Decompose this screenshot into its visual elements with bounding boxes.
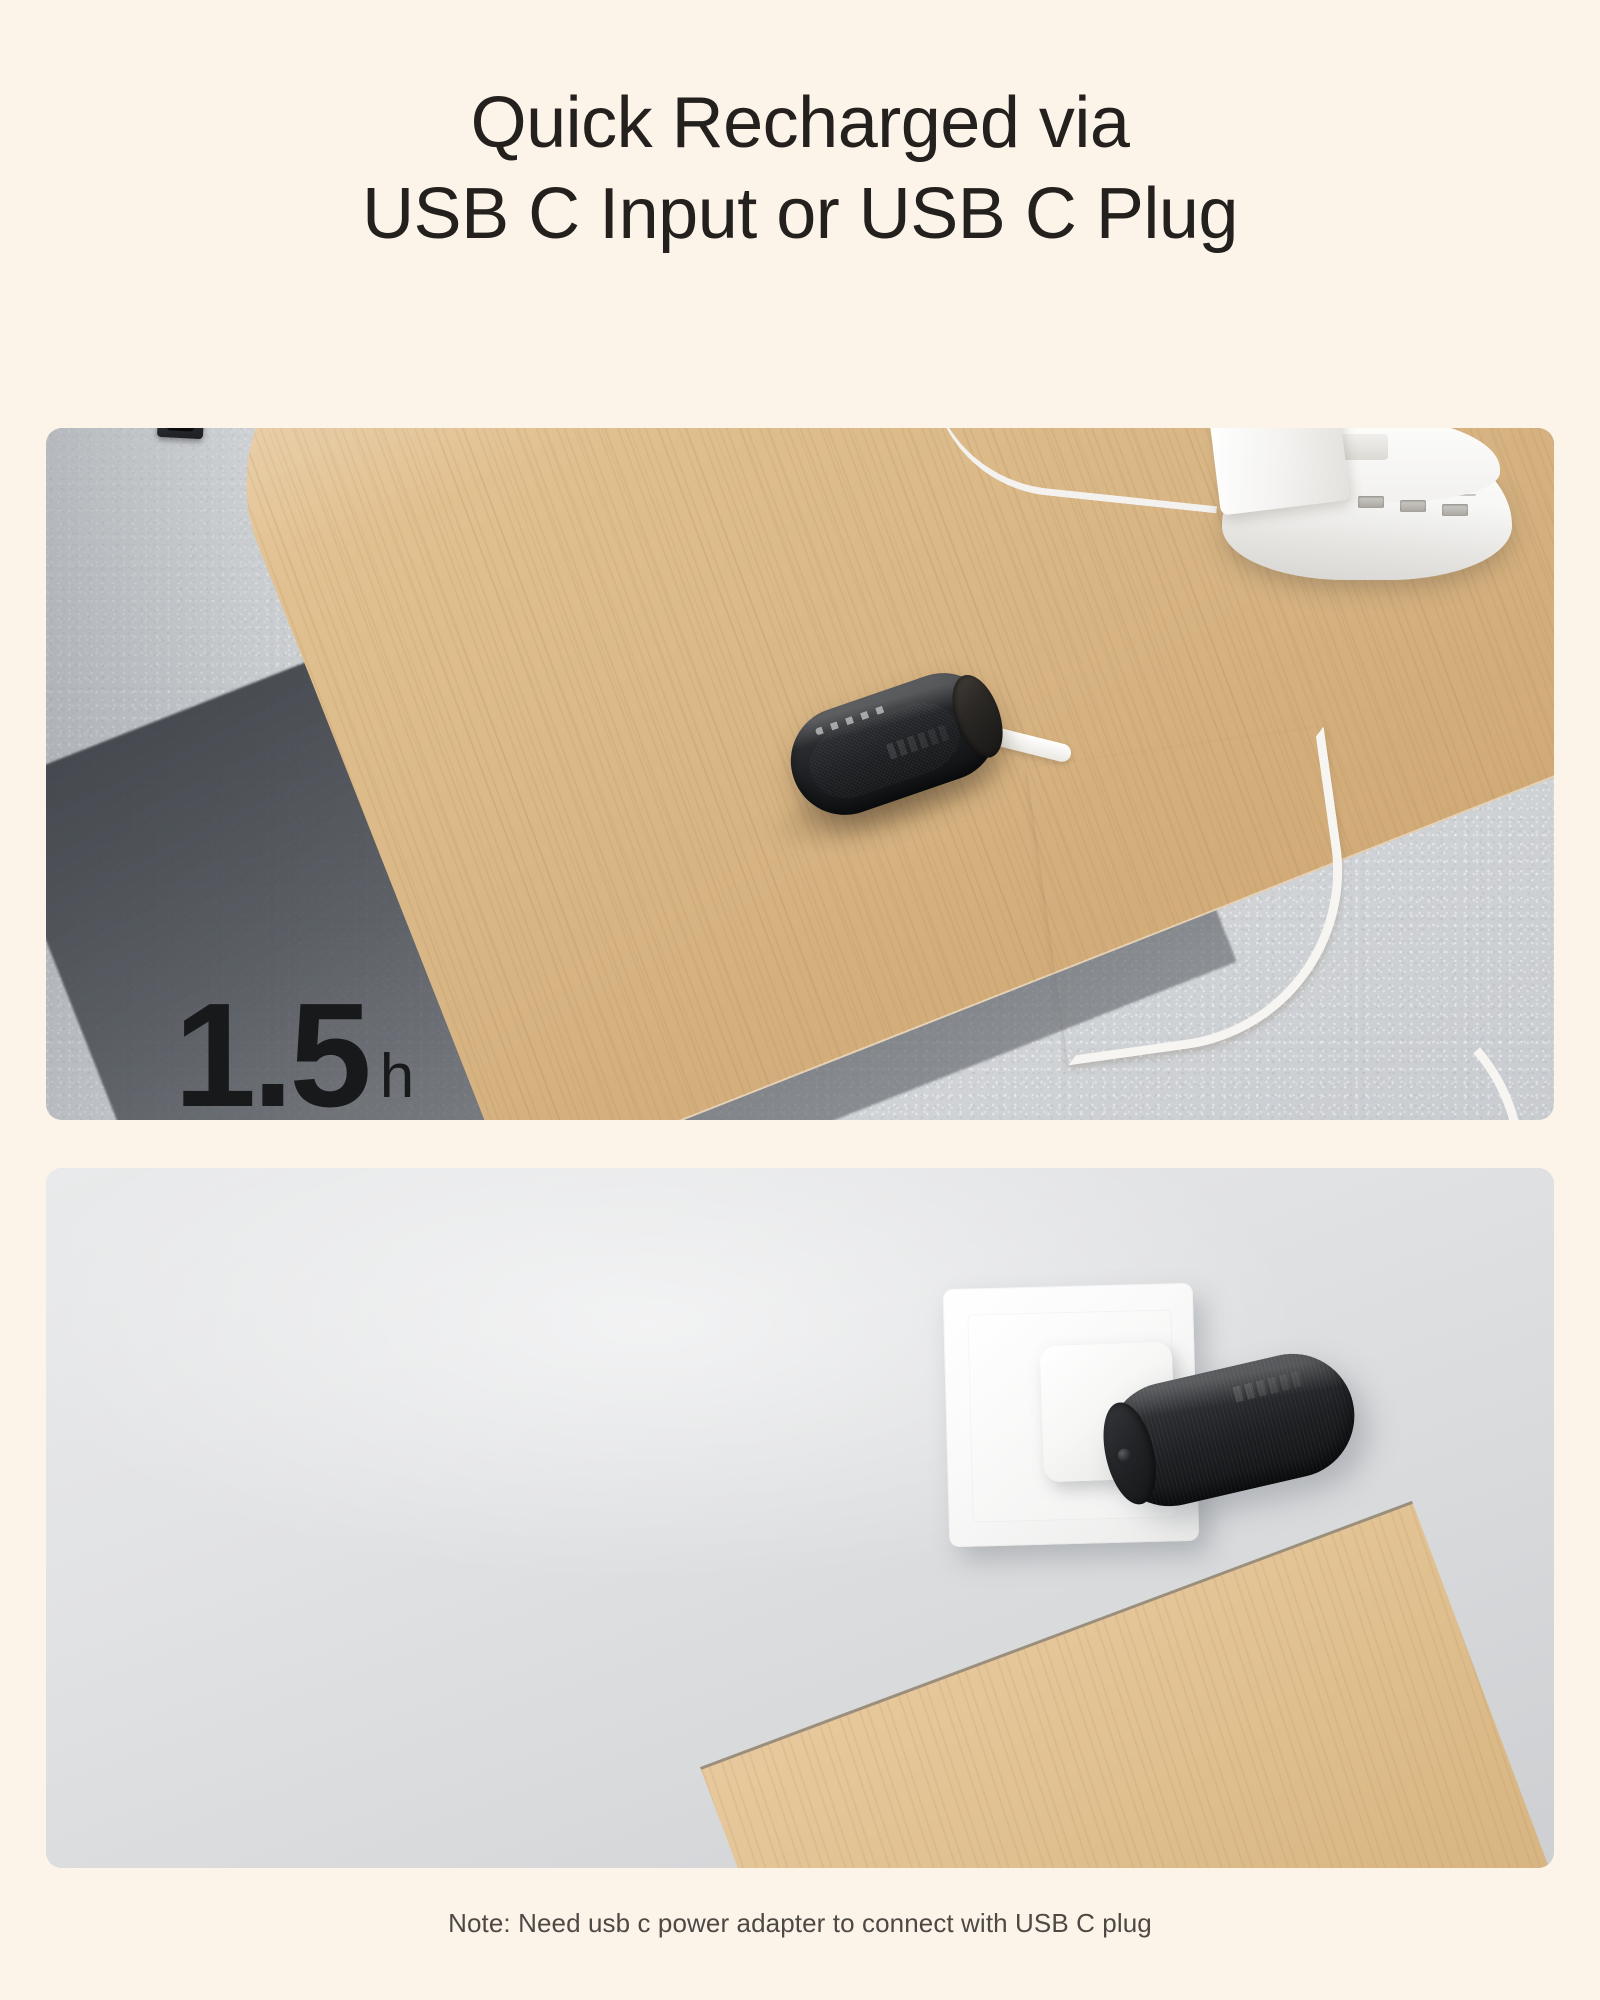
stat-row: 1.5 h (174, 988, 536, 1120)
power-strip-usb-port (1400, 500, 1426, 512)
page-title-line-1: Quick Recharged via (0, 78, 1600, 169)
page-title: Quick Recharged via USB C Input or USB C… (0, 78, 1600, 259)
power-bank-brand-logo (886, 725, 950, 760)
feature-panel-usb-c-input: 1.5 h by 9V-2A Quick Charger (46, 428, 1554, 1120)
power-bank-led-indicators (815, 705, 887, 736)
charge-time-unit: h (380, 1046, 414, 1108)
stat-block-panel-1: 1.5 h by 9V-2A Quick Charger (174, 988, 536, 1120)
charge-time-value: 1.5 (174, 988, 368, 1120)
product-feature-page: Quick Recharged via USB C Input or USB C… (0, 0, 1600, 2000)
power-bank-brand-logo (1232, 1370, 1304, 1402)
power-bank-power-button (1117, 1447, 1133, 1463)
page-title-line-2: USB C Input or USB C Plug (0, 169, 1600, 260)
power-strip-usb-port (1442, 504, 1468, 516)
feature-panel-usb-c-plug: 1.5 h by 9V-2A Quick Charger (46, 1168, 1554, 1868)
footer-note: Note: Need usb c power adapter to connec… (0, 1908, 1600, 1939)
power-strip-usb-port (1358, 496, 1384, 508)
